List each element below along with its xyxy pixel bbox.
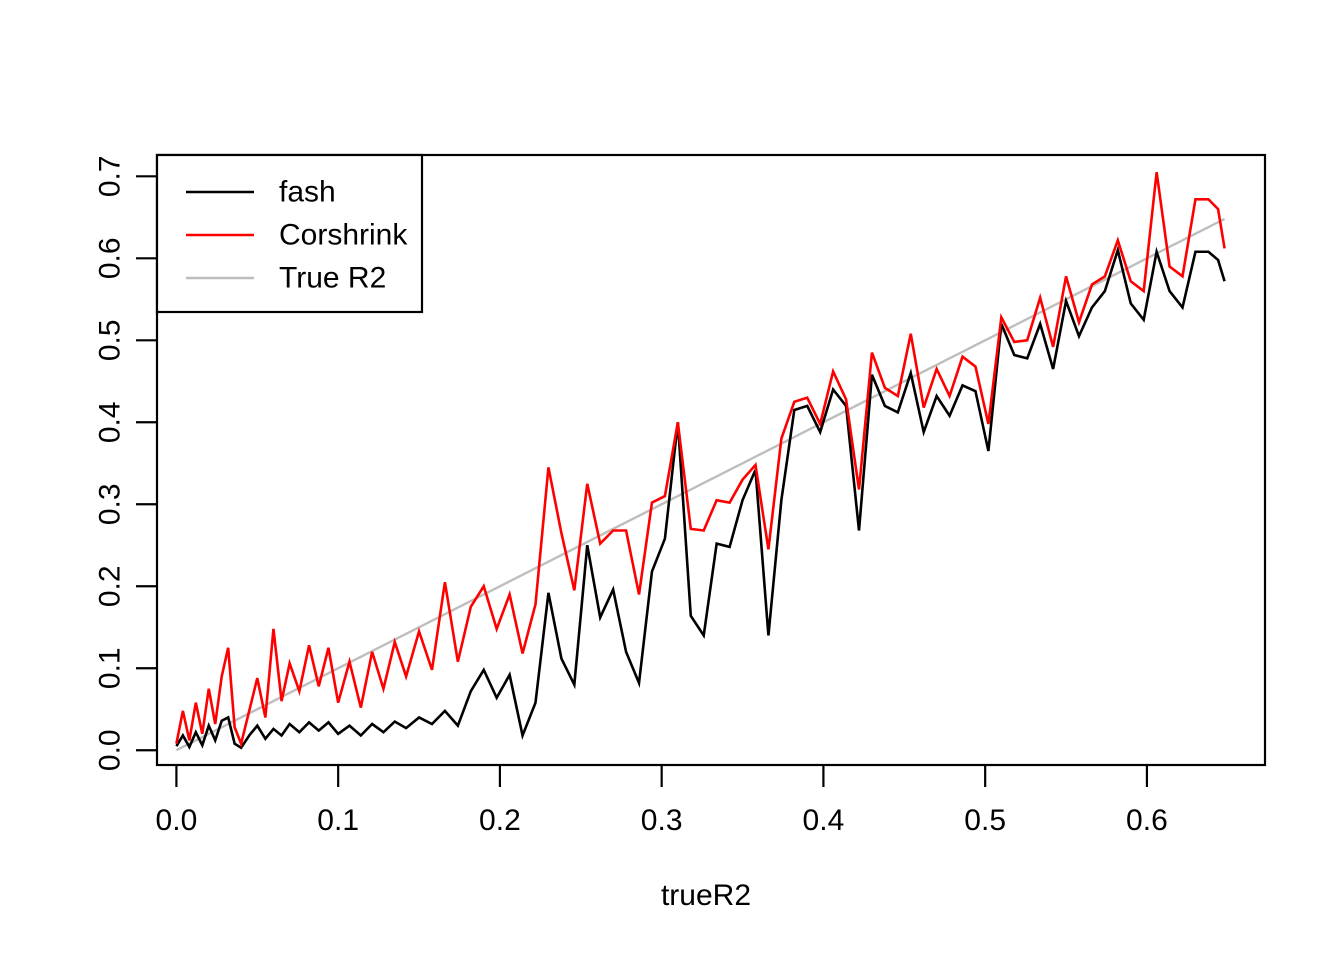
x-tick-label: 0.0 <box>156 804 198 837</box>
x-tick-label: 0.1 <box>317 804 359 837</box>
y-tick-label: 0.3 <box>94 483 127 525</box>
x-tick-label: 0.3 <box>641 804 683 837</box>
y-tick-label: 0.2 <box>94 565 127 607</box>
x-axis-title: trueR2 <box>661 879 751 912</box>
line-chart: 0.00.10.20.30.40.50.60.7 0.00.10.20.30.4… <box>0 0 1344 960</box>
x-tick-label: 0.4 <box>803 804 845 837</box>
x-tick-label: 0.5 <box>964 804 1006 837</box>
y-tick-label: 0.7 <box>94 155 127 197</box>
y-tick-label: 0.1 <box>94 647 127 689</box>
chart-legend: fashCorshrinkTrue R2 <box>157 155 422 312</box>
chart-container: 0.00.10.20.30.40.50.60.7 0.00.10.20.30.4… <box>0 0 1344 960</box>
y-tick-label: 0.6 <box>94 237 127 279</box>
y-tick-label: 0.0 <box>94 729 127 771</box>
legend-label-fash: fash <box>279 176 336 209</box>
x-tick-label: 0.2 <box>479 804 521 837</box>
x-tick-label: 0.6 <box>1126 804 1168 837</box>
y-tick-label: 0.5 <box>94 319 127 361</box>
y-tick-label: 0.4 <box>94 401 127 443</box>
legend-label-true-r2: True R2 <box>279 262 386 295</box>
legend-label-corshrink: Corshrink <box>279 219 408 252</box>
